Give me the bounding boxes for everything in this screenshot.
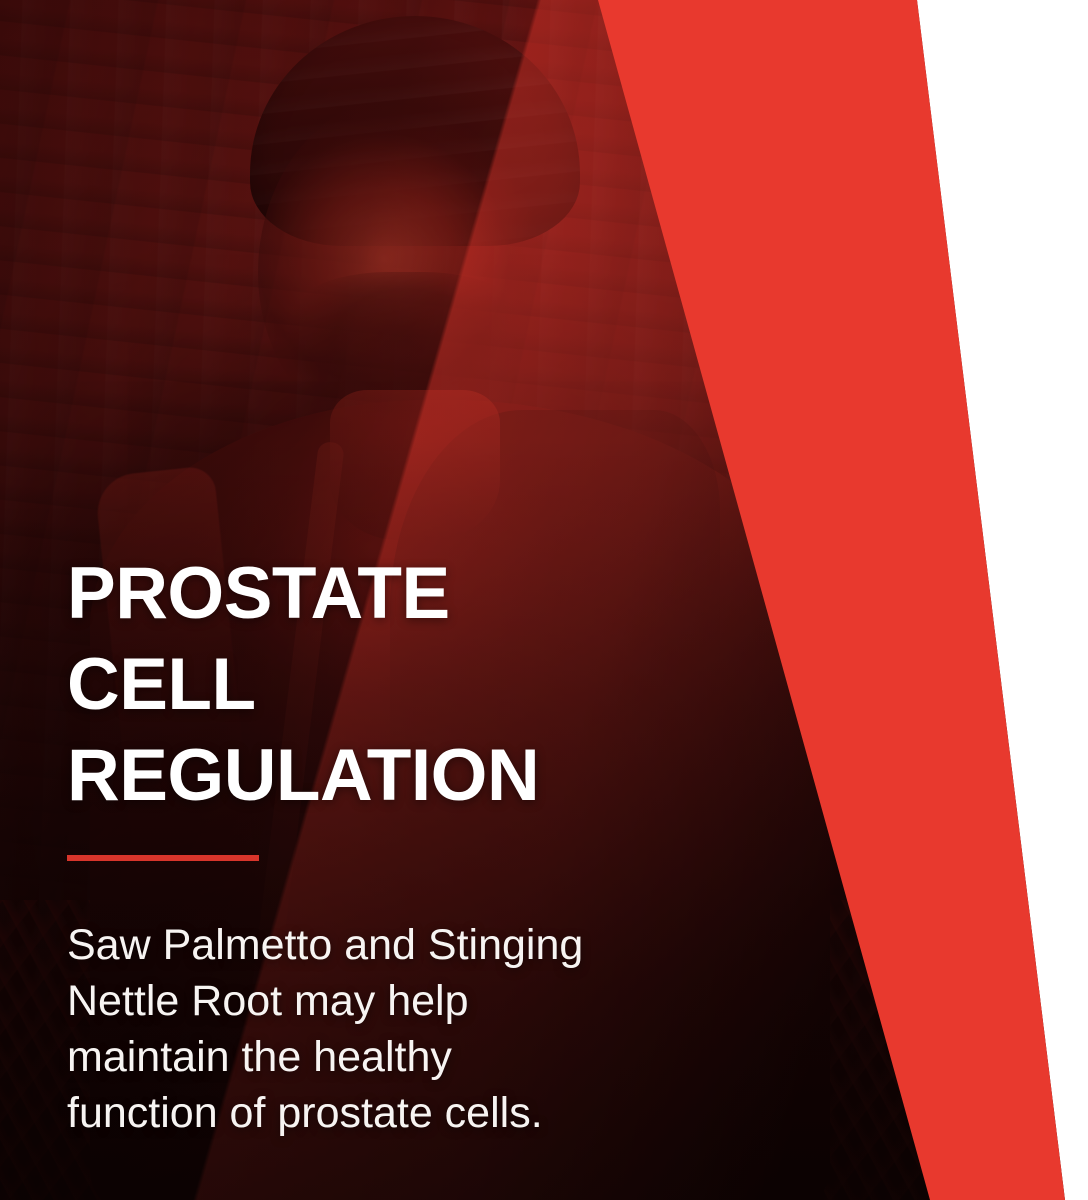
subcopy-line-1: Saw Palmetto and Stinging [67,917,707,973]
copy-block: PROSTATE CELL REGULATION Saw Palmetto an… [67,548,707,1141]
headline-line-1: PROSTATE [67,548,707,639]
headline-line-2: CELL [67,639,707,730]
accent-rule [67,855,259,861]
subcopy-line-4: function of prostate cells. [67,1085,707,1141]
headline-line-3: REGULATION [67,730,707,821]
promo-poster: PROSTATE CELL REGULATION Saw Palmetto an… [0,0,1088,1200]
subcopy-line-3: maintain the healthy [67,1029,707,1085]
subcopy-line-2: Nettle Root may help [67,973,707,1029]
subcopy: Saw Palmetto and Stinging Nettle Root ma… [67,917,707,1141]
headline: PROSTATE CELL REGULATION [67,548,707,821]
